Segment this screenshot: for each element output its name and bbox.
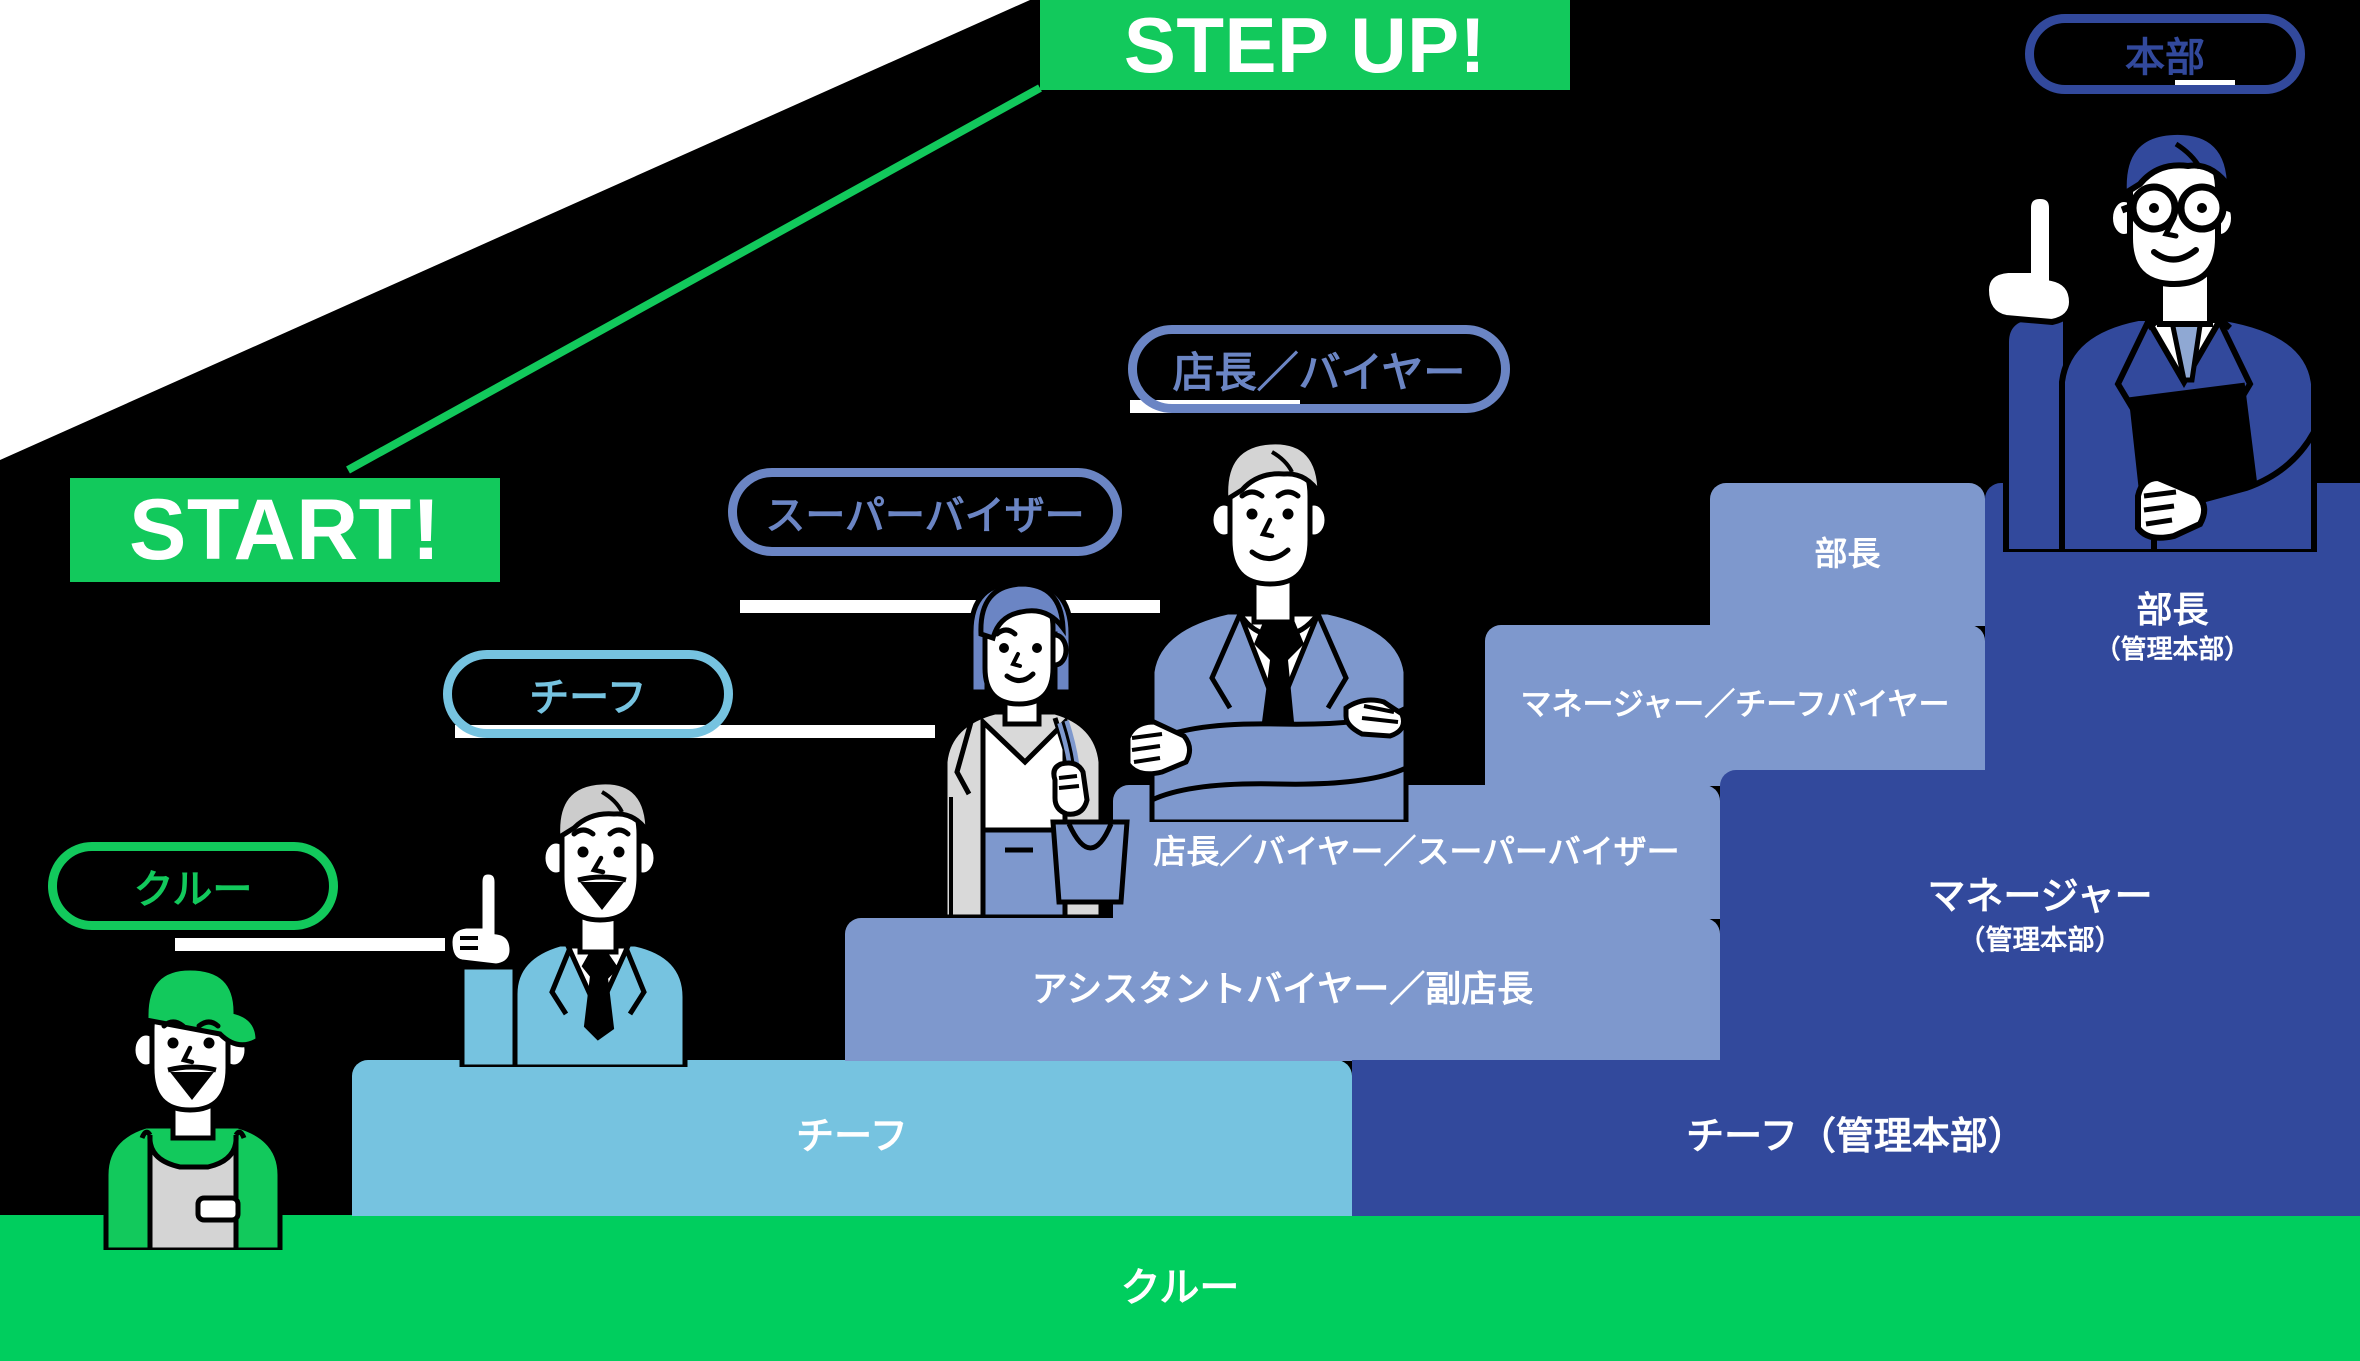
step-label: マネージャー — [1927, 876, 2152, 918]
pill-label: 本部 — [2125, 25, 2205, 83]
step-block-crew-base: クルー — [0, 1215, 2360, 1361]
step-block-chief: チーフ — [352, 1060, 1352, 1216]
white-background-wedge — [0, 0, 1060, 470]
character-store-manager-person — [1128, 422, 1428, 822]
character-chief-person — [420, 762, 710, 1067]
pill-headquarters[interactable]: 本部 — [2025, 14, 2305, 94]
step-block-department-head: 部長 — [1710, 483, 1985, 626]
step-label: チーフ — [796, 1113, 908, 1162]
banner-step-up: STEP UP! — [1040, 0, 1570, 90]
step-sublabel: （管理本部） — [1927, 922, 2152, 958]
step-label: クルー — [1121, 1262, 1240, 1314]
step-sublabel: （管理本部） — [2095, 634, 2250, 668]
step-block-hq-chief: チーフ（管理本部） — [1352, 1060, 2360, 1216]
step-block-manager-chief-buyer: マネージャー／チーフバイヤー — [1485, 625, 1985, 786]
step-label: マネージャー／チーフバイヤー — [1520, 685, 1949, 725]
connector-crew — [175, 938, 445, 951]
step-label: 部長 — [2136, 589, 2208, 630]
pill-store-manager-buyer[interactable]: 店長／バイヤー — [1128, 325, 1510, 413]
banner-start: START! — [70, 478, 500, 582]
pill-label: クルー — [134, 857, 253, 915]
step-label: 部長 — [1815, 533, 1881, 576]
pill-crew[interactable]: クルー — [48, 842, 338, 930]
pill-label: スーパーバイザー — [765, 483, 1084, 541]
pill-supervisor[interactable]: スーパーバイザー — [728, 468, 1122, 556]
career-ladder-infographic: STEP UP! START! クルー チーフ アシスタントバイヤー／副店長 店… — [0, 0, 2360, 1361]
pill-label: 店長／バイヤー — [1173, 339, 1466, 400]
step-label: アシスタントバイヤー／副店長 — [1032, 966, 1533, 1013]
step-label: チーフ（管理本部） — [1686, 1113, 2026, 1162]
step-block-assistant-buyer: アシスタントバイヤー／副店長 — [845, 918, 1720, 1061]
step-block-hq-manager: マネージャー （管理本部） — [1720, 770, 2360, 1061]
pill-chief[interactable]: チーフ — [443, 650, 733, 738]
character-headquarters-person — [1962, 132, 2360, 552]
pill-label: チーフ — [529, 665, 647, 723]
character-crew-member — [68, 960, 318, 1250]
character-supervisor-person — [905, 572, 1165, 917]
step-label: 店長／バイヤー／スーパーバイザー — [1153, 831, 1679, 874]
